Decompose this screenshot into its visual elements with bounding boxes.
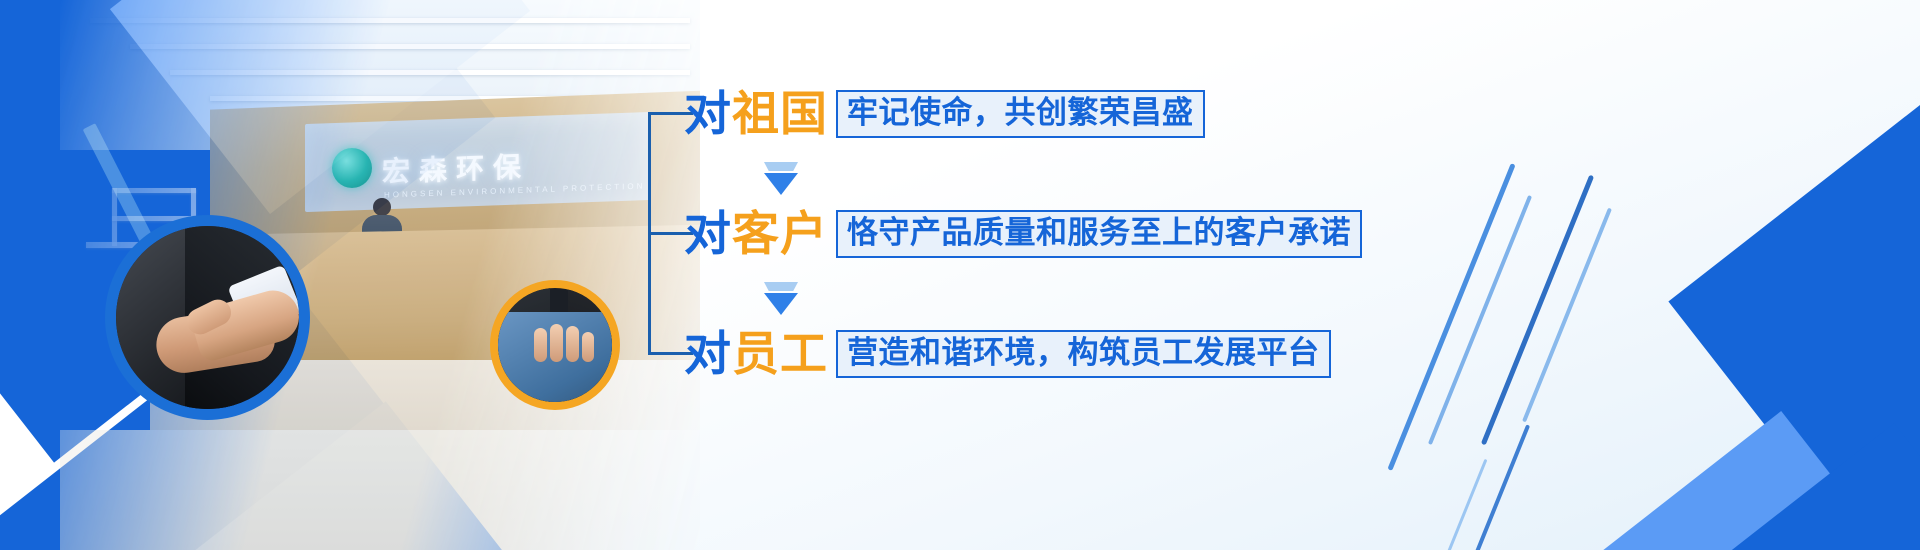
- team-photo: [490, 280, 620, 410]
- arrow-top-part: [764, 162, 798, 171]
- slogan-row-customer: 对客户 恪守产品质量和服务至上的客户承诺: [684, 210, 1362, 258]
- ceiling-light-strip: [130, 44, 690, 49]
- decor-line: [1387, 163, 1515, 471]
- ceiling-light-strip: [90, 18, 690, 23]
- decor-line: [1428, 195, 1532, 445]
- handshake-photo: [105, 215, 310, 420]
- description-customer: 恪守产品质量和服务至上的客户承诺: [836, 210, 1362, 258]
- finger: [550, 324, 563, 362]
- ceiling-light-strip: [170, 70, 690, 75]
- subject-prefix: 对: [684, 207, 732, 260]
- description-employee: 营造和谐环境，构筑员工发展平台: [836, 330, 1331, 378]
- arrow-bottom-part: [764, 293, 798, 315]
- arrow-top-part: [764, 282, 798, 291]
- subject-customer: 对客户: [684, 210, 828, 257]
- arrow-down-icon: [764, 282, 798, 315]
- slogan-group: 对祖国 牢记使命，共创繁荣昌盛 对客户 恪守产品质量和服务至上的客户承诺 对员工…: [648, 0, 1368, 550]
- subject-highlight: 员工: [732, 327, 828, 380]
- figure-head: [373, 198, 391, 216]
- finger: [582, 332, 594, 362]
- subject-highlight: 客户: [732, 207, 828, 260]
- subject-prefix: 对: [684, 327, 732, 380]
- subject-employee: 对员工: [684, 330, 828, 377]
- slogan-row-country: 对祖国 牢记使命，共创繁荣昌盛: [684, 90, 1205, 138]
- banner-stage: 宏森环保 HONGSEN ENVIRONMENTAL PROTECTION: [0, 0, 1920, 550]
- slogan-row-employee: 对员工 营造和谐环境，构筑员工发展平台: [684, 330, 1331, 378]
- finger: [566, 326, 579, 362]
- finger: [534, 328, 547, 362]
- subject-country: 对祖国: [684, 90, 828, 137]
- decor-line: [1481, 175, 1594, 446]
- arrow-bottom-part: [764, 173, 798, 195]
- arrow-down-icon: [764, 162, 798, 195]
- company-logo-icon: [332, 148, 372, 188]
- lobby-floor: [60, 430, 700, 550]
- subject-highlight: 祖国: [732, 87, 828, 140]
- shelf-unit: [112, 188, 196, 193]
- subject-prefix: 对: [684, 87, 732, 140]
- description-country: 牢记使命，共创繁荣昌盛: [836, 90, 1205, 138]
